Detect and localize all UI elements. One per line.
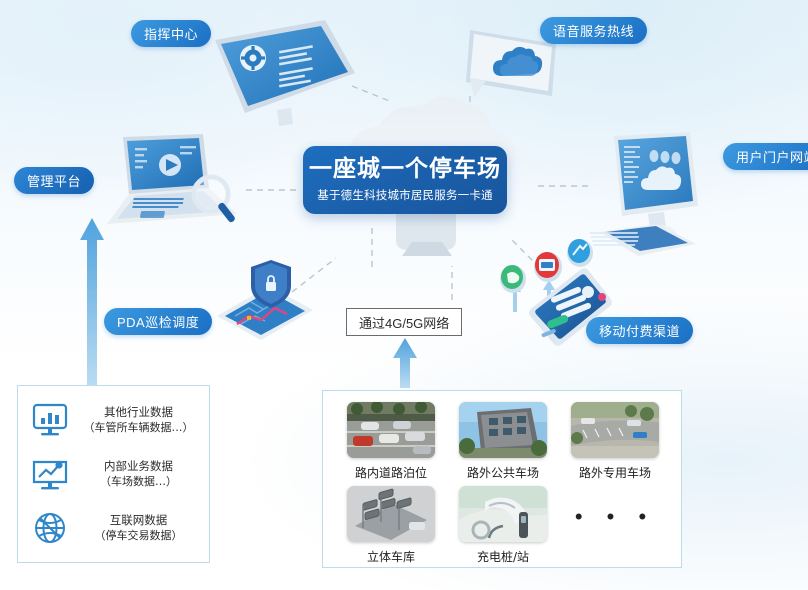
on-street-parking-photo xyxy=(347,402,435,458)
label-pda-dispatch[interactable]: PDA巡检调度 xyxy=(104,308,212,335)
data-source-sub: （车场数据…） xyxy=(76,474,201,490)
isometric-desktop-cloud-keyboard-icon xyxy=(586,128,746,268)
list-item[interactable]: 其他行业数据 （车管所车辆数据…） xyxy=(28,398,201,442)
alipay-icon xyxy=(531,248,565,284)
label-voice-hotline[interactable]: 语音服务热线 xyxy=(540,17,647,44)
main-title-card: 一座城一个停车场 基于德生科技城市居民服务一卡通 xyxy=(303,146,507,214)
more-scenes-ellipsis: • • • xyxy=(559,486,671,570)
page-title: 一座城一个停车场 xyxy=(309,157,501,182)
data-source-title: 内部业务数据 xyxy=(76,458,201,475)
list-item[interactable]: 路内道路泊位 xyxy=(335,402,447,481)
public-offstreet-lot-photo xyxy=(459,402,547,458)
scene-caption: 路外专用车场 xyxy=(579,464,651,481)
scene-caption: 路内道路泊位 xyxy=(355,464,427,481)
data-source-sub: （车管所车辆数据…） xyxy=(76,420,201,436)
scene-caption: 路外公共车场 xyxy=(467,464,539,481)
list-item[interactable]: 充电桩/站 xyxy=(447,486,559,565)
infographic-canvas: 一座城一个停车场 基于德生科技城市居民服务一卡通 指挥中心 语音服务热线 用户门… xyxy=(0,0,808,590)
list-item[interactable]: 立体车库 xyxy=(335,486,447,565)
bar-chart-monitor-icon xyxy=(28,398,72,442)
page-subtitle: 基于德生科技城市居民服务一卡通 xyxy=(317,187,493,203)
scene-caption: 立体车库 xyxy=(367,548,415,565)
label-management-platform[interactable]: 管理平台 xyxy=(14,167,94,194)
isometric-tablet-route-shield-icon xyxy=(205,258,325,346)
unionpay-icon xyxy=(564,235,596,269)
isometric-laptop-play-magnifier-icon xyxy=(85,132,260,242)
label-mobile-payment[interactable]: 移动付费渠道 xyxy=(586,317,693,344)
arrow-up-management xyxy=(79,218,105,388)
isometric-monitor-gear-icon xyxy=(205,18,360,133)
data-source-title: 其他行业数据 xyxy=(76,404,201,421)
line-chart-monitor-icon xyxy=(28,452,72,496)
data-source-sub: （停车交易数据） xyxy=(76,528,201,544)
mechanical-garage-photo xyxy=(347,486,435,542)
data-sources-panel: 其他行业数据 （车管所车辆数据…） 内部业务数据 （车场数据…） xyxy=(17,385,210,563)
data-source-title: 互联网数据 xyxy=(76,512,201,529)
scene-caption: 充电桩/站 xyxy=(477,548,529,565)
list-item[interactable]: 内部业务数据 （车场数据…） xyxy=(28,452,201,496)
label-network: 通过4G/5G网络 xyxy=(346,308,462,336)
wechat-pay-icon xyxy=(497,261,529,295)
label-user-portal[interactable]: 用户门户网站 xyxy=(723,143,808,170)
label-command-center[interactable]: 指挥中心 xyxy=(131,20,211,47)
list-item[interactable]: 路外专用车场 xyxy=(559,402,671,481)
ev-charging-photo xyxy=(459,486,547,542)
parking-scenes-panel: 路内道路泊位 xyxy=(322,390,682,568)
arrow-up-network xyxy=(392,338,418,388)
dedicated-offstreet-lot-photo xyxy=(571,402,659,458)
globe-network-icon xyxy=(28,506,72,550)
list-item[interactable]: 互联网数据 （停车交易数据） xyxy=(28,506,201,550)
list-item[interactable]: 路外公共车场 xyxy=(447,402,559,481)
